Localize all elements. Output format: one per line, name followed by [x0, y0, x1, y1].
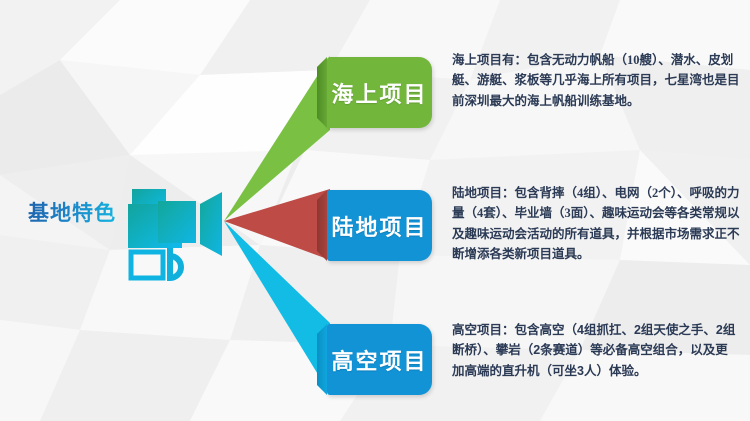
category-description-sea: 海上项目有：包含无动力帆船（10艘）、潜水、皮划艇、游艇、浆板等几乎海上所有项目…: [452, 50, 740, 111]
projector-icon: [128, 186, 238, 286]
category-box-air[interactable]: 高空项目: [327, 324, 432, 395]
category-description-land: 陆地项目：包含背摔（4组）、电网（2个）、呼吸的力量（4套）、毕业墙（3面）、趣…: [452, 183, 740, 264]
category-description-air: 高空项目：包含高空（4组抓扛、2组天使之手、2组断桥）、攀岩（2条赛道）等必备高…: [452, 320, 740, 381]
ribbon-tail-sea: [317, 57, 327, 128]
slide-canvas: 基地特色 海上项目 陆地项目 高空项目: [0, 0, 750, 421]
category-box-sea[interactable]: 海上项目: [327, 57, 432, 128]
category-box-land[interactable]: 陆地项目: [327, 190, 432, 261]
ribbon-tail-land: [317, 190, 327, 261]
ribbon-tail-air: [317, 324, 327, 395]
category-label-land: 陆地项目: [331, 210, 427, 242]
category-label-sea: 海上项目: [331, 77, 427, 109]
category-label-air: 高空项目: [331, 344, 427, 376]
page-title: 基地特色: [28, 197, 116, 227]
